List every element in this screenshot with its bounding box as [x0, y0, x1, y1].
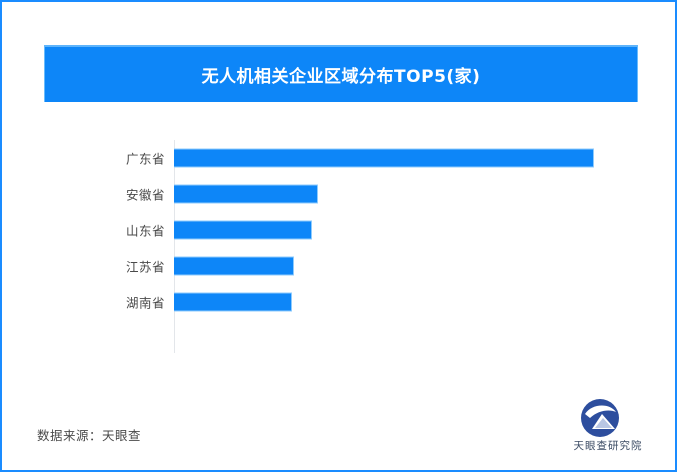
bar-track: [174, 257, 294, 276]
bar-category-label: 广东省: [62, 149, 165, 168]
bar-track: [174, 221, 312, 240]
data-source-label: 数据来源：天眼查: [37, 425, 141, 444]
bar-row: 山东省: [2, 212, 677, 248]
bar-track: [174, 185, 318, 204]
bar-value-fill[interactable]: [174, 293, 292, 312]
tianyancha-research-emblem-icon: [580, 398, 620, 438]
bar-category-label: 江苏省: [62, 257, 165, 276]
brand-logo-text: 天眼查研究院: [562, 438, 654, 453]
bar-row: 安徽省: [2, 176, 677, 212]
page-title: 无人机相关企业区域分布TOP5(家): [202, 62, 481, 87]
chart-title-band: 无人机相关企业区域分布TOP5(家): [44, 45, 638, 102]
bar-value-fill[interactable]: [174, 257, 294, 276]
bar-row: 广东省: [2, 140, 677, 176]
bar-row: 湖南省: [2, 284, 677, 320]
bar-category-label: 山东省: [62, 221, 165, 240]
bar-category-label: 湖南省: [62, 293, 165, 312]
bar-value-fill[interactable]: [174, 221, 312, 240]
bar-value-fill[interactable]: [174, 149, 594, 168]
bar-row: 江苏省: [2, 248, 677, 284]
bar-value-fill[interactable]: [174, 185, 318, 204]
bar-track: [174, 149, 594, 168]
bar-track: [174, 293, 292, 312]
bar-category-label: 安徽省: [62, 185, 165, 204]
brand-logo: 天眼查研究院: [562, 398, 654, 458]
chart-card: 无人机相关企业区域分布TOP5(家) 广东省 安徽省 山东省 江苏省: [0, 0, 677, 472]
chart-plot-area: 广东省 安徽省 山东省 江苏省 湖南省: [2, 134, 677, 354]
